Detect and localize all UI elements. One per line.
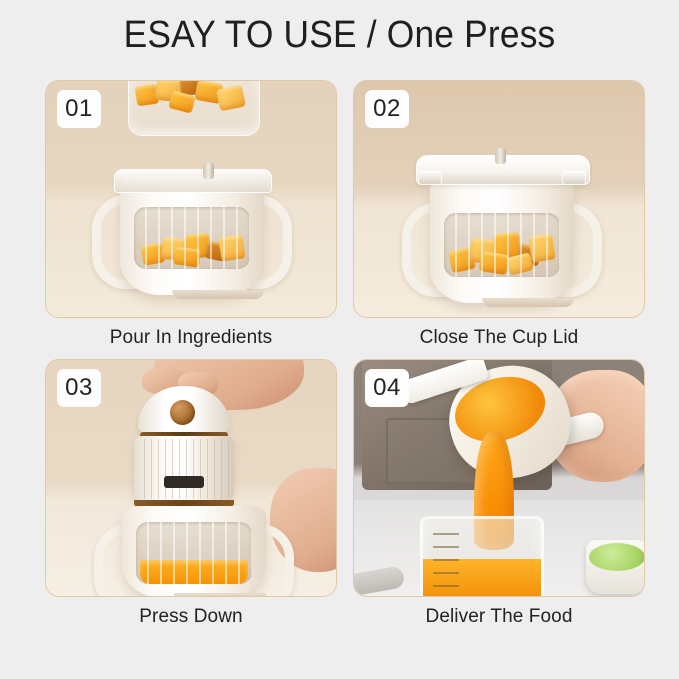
cup-base bbox=[172, 290, 264, 299]
page-title: ESAY TO USE / One Press bbox=[24, 14, 655, 57]
lid-clip-right bbox=[562, 170, 586, 185]
step-caption-02: Close The Cup Lid bbox=[353, 327, 645, 349]
steps-grid: 01 Pour In Ingredients bbox=[45, 80, 645, 628]
cup-window-ribs bbox=[136, 522, 252, 584]
pour-container-fruit bbox=[136, 80, 248, 111]
cup-base bbox=[174, 593, 266, 597]
lid-knob bbox=[495, 148, 506, 164]
cup-window bbox=[134, 207, 250, 269]
motor-unit bbox=[124, 386, 244, 522]
cup-body bbox=[120, 177, 264, 295]
cup-base bbox=[482, 298, 574, 307]
step-badge-03: 03 bbox=[57, 369, 101, 407]
cup-body bbox=[430, 179, 574, 303]
press-knob bbox=[170, 400, 195, 425]
step-card-03: 03 Press Down bbox=[45, 359, 337, 628]
food-cup-with-motor bbox=[96, 506, 292, 597]
step-badge-04: 04 bbox=[365, 369, 409, 407]
motor-ribs bbox=[138, 439, 230, 499]
cup-body bbox=[122, 506, 266, 597]
step-card-01: 01 Pour In Ingredients bbox=[45, 80, 337, 349]
step-badge-01: 01 bbox=[57, 90, 101, 128]
step-caption-04: Deliver The Food bbox=[353, 606, 645, 628]
motor-housing bbox=[134, 436, 234, 502]
green-puree-container bbox=[586, 540, 645, 594]
lid-clip-left bbox=[418, 170, 442, 185]
cup-lid bbox=[114, 169, 272, 193]
step-photo-03: 03 bbox=[45, 359, 337, 597]
step-caption-03: Press Down bbox=[45, 606, 337, 628]
infographic-page: ESAY TO USE / One Press bbox=[0, 0, 679, 679]
measurement-markings bbox=[433, 533, 459, 593]
cup-window bbox=[444, 213, 560, 277]
step-badge-02: 02 bbox=[365, 90, 409, 128]
cup-window bbox=[136, 522, 252, 584]
food-cup-open bbox=[94, 169, 290, 299]
green-puree bbox=[589, 543, 645, 571]
step-card-04: 04 Deliver The Food bbox=[353, 359, 645, 628]
cup-window-ribs bbox=[444, 213, 560, 277]
brand-logo bbox=[164, 476, 204, 488]
measuring-cup bbox=[420, 516, 544, 597]
step-photo-04: 04 bbox=[353, 359, 645, 597]
step-photo-02: 02 bbox=[353, 80, 645, 318]
step-card-02: 02 Close The Cup Lid bbox=[353, 80, 645, 349]
food-cup-closed bbox=[404, 155, 600, 305]
lid-knob bbox=[203, 163, 214, 179]
step-photo-01: 01 bbox=[45, 80, 337, 318]
step-caption-01: Pour In Ingredients bbox=[45, 327, 337, 349]
cup-window-ribs bbox=[134, 207, 250, 269]
